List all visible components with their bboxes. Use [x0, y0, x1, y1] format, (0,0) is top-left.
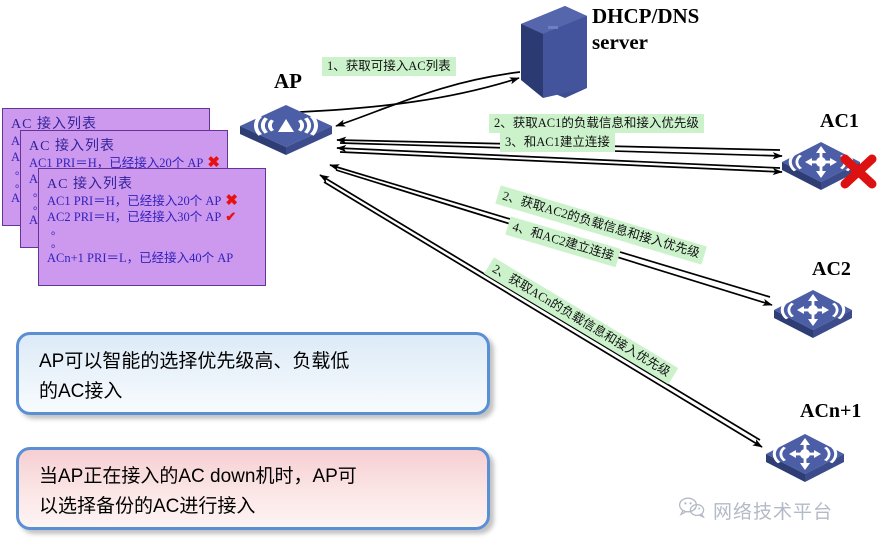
- step-label-2-ac1: 2、获取AC1的负载信息和接入优先级: [489, 114, 704, 133]
- card-title: AC 接入列表: [47, 173, 257, 193]
- row-mark-cross-icon: ✖: [221, 193, 238, 209]
- callout-line: 当AP正在接入的AC down机时，AP可: [39, 462, 473, 492]
- ap-label: AP: [274, 69, 302, 94]
- watermark: 网络技术平台: [678, 496, 833, 524]
- card-row: ACn+1 PRI＝L，已经接入40个 AP: [47, 251, 257, 266]
- card-row: 。: [47, 238, 257, 251]
- row-mark-check-icon: ✔: [221, 209, 236, 224]
- card-row: 。: [47, 225, 257, 238]
- wireless-ap-icon: [236, 103, 336, 162]
- acn1-label: ACn+1: [800, 400, 861, 423]
- step-label-3-ac1: 3、和AC1建立连接: [500, 133, 615, 152]
- wireless-controller-icon-ac2: [770, 288, 856, 347]
- card-row-text: AC2 PRI＝H，已经接入30个 AP: [47, 210, 221, 224]
- server-label-line1: DHCP/DNS: [592, 3, 699, 29]
- callout-line: AP可以智能的选择优先级高、负载低: [39, 347, 473, 377]
- ac1-label: AC1: [820, 110, 859, 133]
- callout-backup-ac: 当AP正在接入的AC down机时，AP可 以选择备份的AC进行接入: [16, 447, 490, 530]
- card-row-text: AC1 PRI＝H，已经接入20个 AP: [47, 194, 221, 208]
- server-icon: [513, 4, 591, 105]
- ac-list-card-front[interactable]: AC 接入列表 AC1 PRI＝H，已经接入20个 AP✖ AC2 PRI＝H，…: [38, 168, 266, 286]
- card-title: AC 接入列表: [29, 135, 219, 155]
- diagram-canvas: DHCP/DNS server AP: [0, 0, 890, 543]
- watermark-text: 网络技术平台: [713, 497, 833, 524]
- step-label-1: 1、获取可接入AC列表: [322, 57, 456, 76]
- server-label-line2: server: [592, 29, 699, 55]
- callout-smart-selection: AP可以智能的选择优先级高、负载低 的AC接入: [16, 332, 490, 415]
- wechat-icon: [678, 496, 706, 524]
- card-row: AC2 PRI＝H，已经接入30个 AP✔: [47, 209, 257, 225]
- callout-line: 以选择备份的AC进行接入: [39, 492, 473, 522]
- ac2-label: AC2: [812, 258, 851, 281]
- ac1-down-x-icon: [838, 152, 880, 197]
- server-label: DHCP/DNS server: [592, 3, 699, 55]
- card-row: AC1 PRI＝H，已经接入20个 AP✖: [47, 194, 257, 209]
- wireless-controller-icon-acn1: [762, 432, 848, 491]
- callout-line: 的AC接入: [39, 377, 473, 407]
